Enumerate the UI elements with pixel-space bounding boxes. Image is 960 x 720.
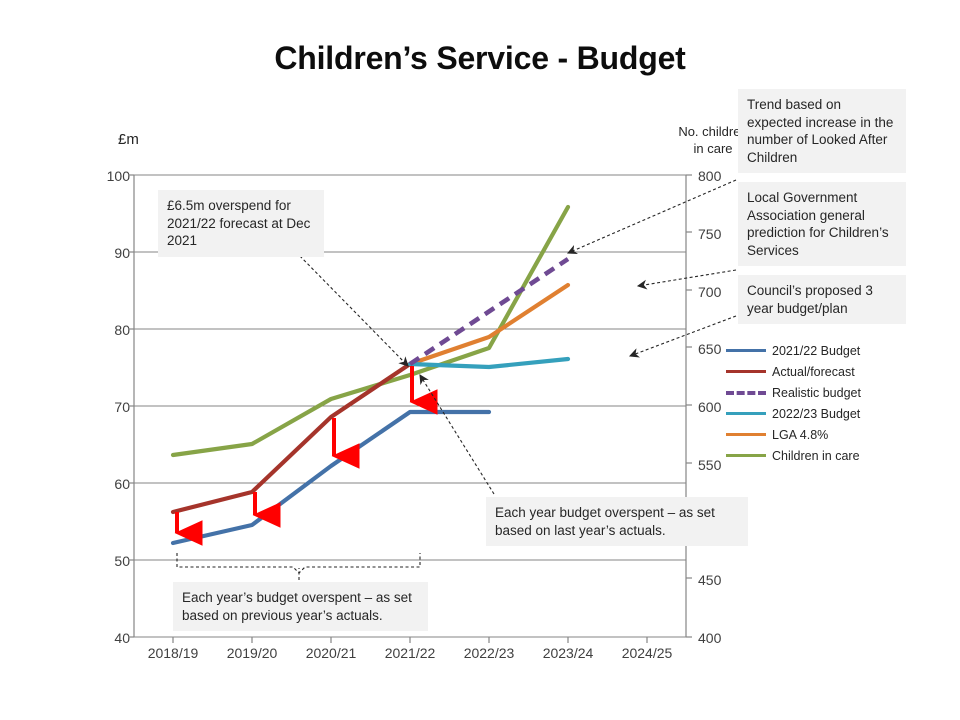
callout-lga: Local Government Association general pre… bbox=[738, 182, 906, 266]
callout-council: Council’s proposed 3 year budget/plan bbox=[738, 275, 906, 324]
callout-each-year-budget-overspent-lower: Each year’s budget overspent – as set ba… bbox=[173, 582, 428, 631]
series-lga-48 bbox=[410, 285, 568, 364]
callout-each-year-budget-overspent-mid: Each year budget overspent – as set base… bbox=[486, 497, 748, 546]
legend-label-2021-22-budget: 2021/22 Budget bbox=[772, 344, 860, 358]
legend-item-actual-forecast[interactable]: Actual/forecast bbox=[726, 361, 906, 382]
legend-swatch-actual-forecast bbox=[726, 370, 766, 373]
legend-item-realistic-budget[interactable]: Realistic budget bbox=[726, 382, 906, 403]
leader-trend bbox=[568, 180, 736, 253]
series-2022-23-budget bbox=[410, 359, 568, 367]
legend-label-actual-forecast: Actual/forecast bbox=[772, 365, 855, 379]
legend-swatch-2021-22-budget bbox=[726, 349, 766, 352]
legend-label-children-in-care: Children in care bbox=[772, 449, 860, 463]
legend-label-2022-23-budget: 2022/23 Budget bbox=[772, 407, 860, 421]
leader-eachyear-mid bbox=[420, 375, 494, 494]
legend-swatch-2022-23-budget bbox=[726, 412, 766, 415]
legend-item-lga-48[interactable]: LGA 4.8% bbox=[726, 424, 906, 445]
callout-overspend: £6.5m overspend for 2021/22 forecast at … bbox=[158, 190, 324, 257]
chart-legend: 2021/22 Budget Actual/forecast Realistic… bbox=[726, 340, 906, 466]
legend-label-realistic-budget: Realistic budget bbox=[772, 386, 861, 400]
series-2021-22-budget bbox=[173, 412, 489, 543]
slide-canvas: Children’s Service - Budget £m No. child… bbox=[0, 0, 960, 720]
legend-item-children-in-care[interactable]: Children in care bbox=[726, 445, 906, 466]
legend-item-2022-23-budget[interactable]: 2022/23 Budget bbox=[726, 403, 906, 424]
legend-swatch-lga-48 bbox=[726, 433, 766, 436]
legend-swatch-realistic-budget bbox=[726, 391, 766, 395]
leader-council bbox=[630, 316, 736, 356]
legend-label-lga-48: LGA 4.8% bbox=[772, 428, 828, 442]
leader-brace-lower bbox=[177, 553, 420, 573]
leader-overspend bbox=[296, 252, 408, 366]
legend-swatch-children-in-care bbox=[726, 454, 766, 457]
callout-trend: Trend based on expected increase in the … bbox=[738, 89, 906, 173]
leader-lga bbox=[638, 270, 736, 286]
legend-item-2021-22-budget[interactable]: 2021/22 Budget bbox=[726, 340, 906, 361]
